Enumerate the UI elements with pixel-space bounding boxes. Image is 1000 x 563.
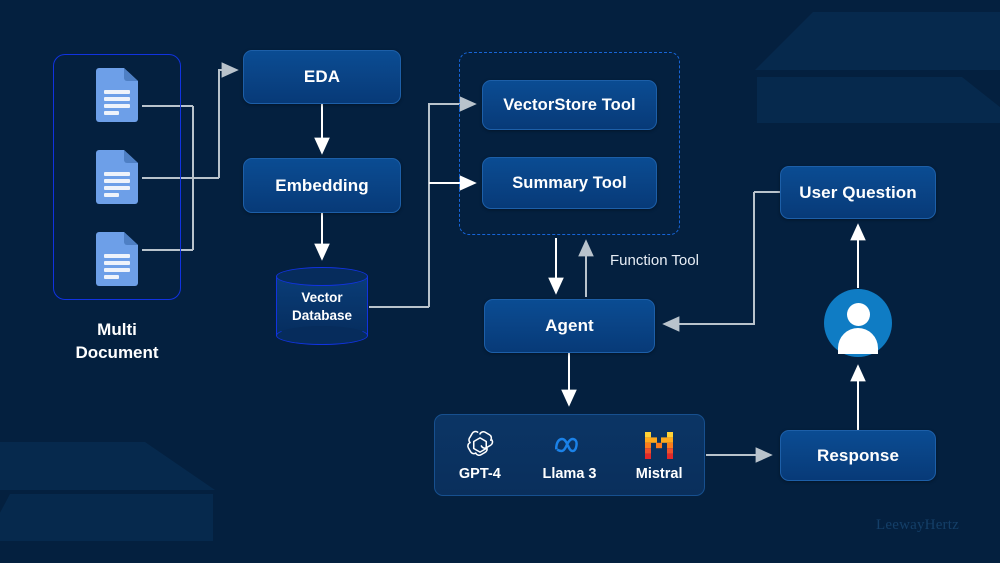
mistral-logo-icon (643, 429, 675, 461)
llm-name-mistral: Mistral (636, 466, 683, 482)
llm-item-gpt4[interactable]: GPT-4 (442, 429, 518, 482)
vector-database-label: Vector Database (276, 289, 368, 325)
node-embedding[interactable]: Embedding (243, 158, 401, 213)
function-tool-label: Function Tool (610, 252, 699, 269)
node-user-question[interactable]: User Question (780, 166, 936, 219)
document-icon (96, 68, 138, 122)
document-icon-list (53, 54, 181, 300)
llm-item-llama3[interactable]: Llama 3 (531, 429, 607, 482)
user-avatar-icon (824, 289, 892, 357)
document-icon (96, 232, 138, 286)
cylinder-bottom-ellipse (276, 326, 368, 345)
cylinder-top-ellipse (276, 267, 368, 286)
node-eda[interactable]: EDA (243, 50, 401, 104)
node-agent[interactable]: Agent (484, 299, 655, 353)
vector-database-label-line1: Vector (276, 289, 368, 307)
llm-name-llama3: Llama 3 (542, 466, 596, 482)
multi-document-label: Multi Document (33, 318, 201, 365)
avatar-body (838, 328, 878, 354)
openai-logo-icon (464, 429, 496, 461)
llm-name-gpt4: GPT-4 (459, 466, 501, 482)
node-vectorstore-tool[interactable]: VectorStore Tool (482, 80, 657, 130)
diagram-canvas: Multi Document EDA Embedding Vector Data… (0, 0, 1000, 563)
node-response[interactable]: Response (780, 430, 936, 481)
llm-item-mistral[interactable]: Mistral (621, 429, 697, 482)
multi-document-label-line1: Multi (33, 318, 201, 341)
multi-document-label-line2: Document (33, 341, 201, 364)
meta-logo-icon (553, 429, 585, 461)
node-vector-database[interactable]: Vector Database (276, 267, 368, 345)
node-summary-tool[interactable]: Summary Tool (482, 157, 657, 209)
llm-models-group[interactable]: GPT-4 Llama 3 (434, 414, 705, 496)
avatar-head (847, 303, 870, 326)
watermark: LeewayHertz (876, 517, 959, 534)
vector-database-label-line2: Database (276, 307, 368, 325)
document-icon (96, 150, 138, 204)
